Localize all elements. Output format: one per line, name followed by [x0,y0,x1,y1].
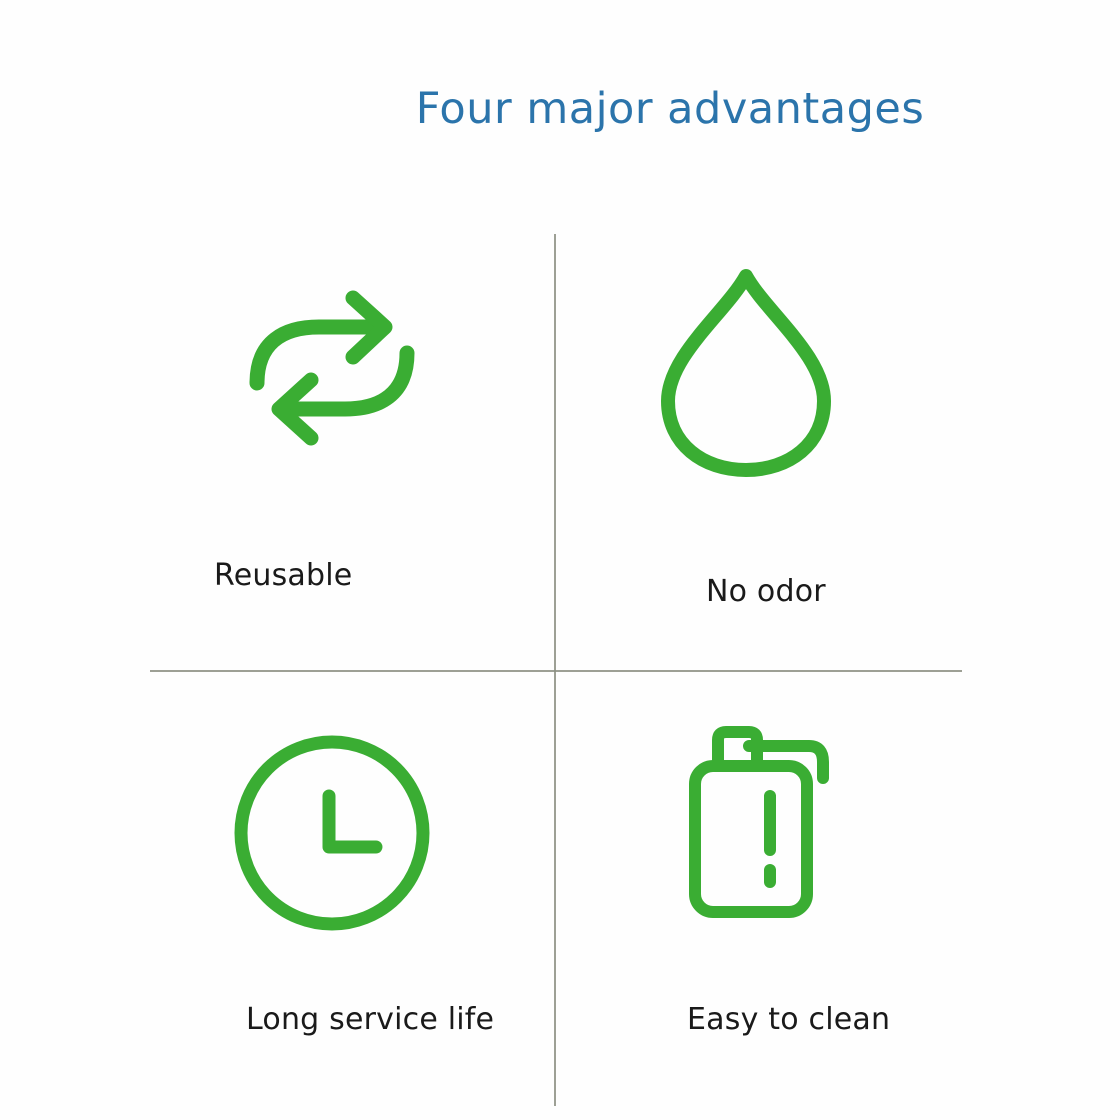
advantage-label-easy-to-clean: Easy to clean [687,1002,890,1037]
advantage-label-long-service-life: Long service life [246,1002,494,1037]
advantages-infographic: Four major advantages Reusable No odor [0,0,1120,1120]
advantage-label-reusable: Reusable [214,558,352,593]
clock-icon [233,734,431,932]
advantage-card-no-odor: No odor [556,234,1120,670]
recycle-arrows-icon [247,283,417,453]
advantage-card-reusable: Reusable [0,234,554,670]
soap-dispenser-icon [687,720,847,920]
advantage-card-easy-to-clean: Easy to clean [556,672,1120,1120]
advantage-label-no-odor: No odor [706,574,826,609]
page-title: Four major advantages [0,84,1120,134]
water-drop-icon [656,264,836,479]
advantage-card-long-service-life: Long service life [0,672,554,1120]
